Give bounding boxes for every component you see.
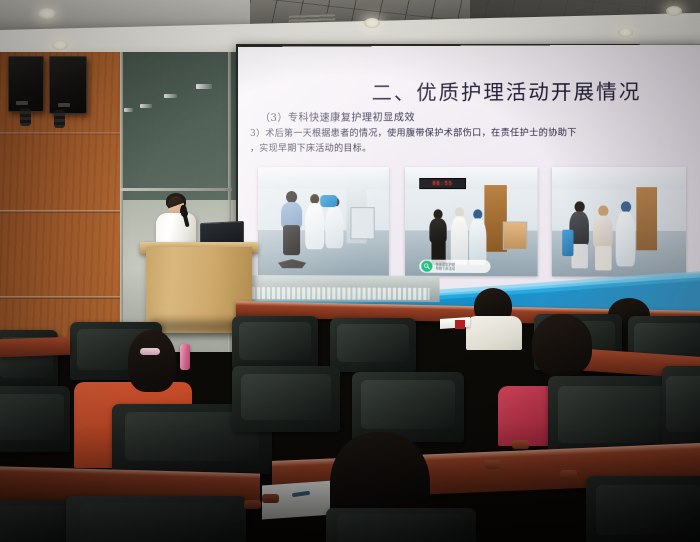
chair-m4-pad bbox=[361, 380, 455, 429]
chair-m5-pad bbox=[558, 386, 667, 443]
attendee-bob-hair-head bbox=[532, 314, 592, 376]
photo2-led-clock-text: 08:55 bbox=[432, 181, 452, 187]
slide-footer-hospital-photo bbox=[238, 275, 440, 302]
chair-f3 bbox=[326, 508, 476, 542]
photo3-patient-legs bbox=[595, 246, 611, 270]
projection-screen: 二、优质护理活动开展情况 （3）专科快速康复护理初显成效 3）术后第一天根据患者… bbox=[238, 44, 700, 311]
photo1-ceiling bbox=[258, 167, 389, 189]
chair-m3 bbox=[232, 366, 340, 432]
downlight-icon-2 bbox=[52, 40, 68, 50]
glass-reflection-4 bbox=[124, 108, 133, 112]
photo3-door bbox=[636, 187, 657, 250]
slide-photo-1 bbox=[258, 167, 389, 276]
photo1-blue-bag bbox=[320, 195, 337, 207]
chair-m3-pad bbox=[241, 374, 332, 420]
chair-b1-pad bbox=[239, 322, 311, 360]
chair-f-arm-4 bbox=[560, 470, 577, 479]
chair-f4-pad bbox=[596, 485, 700, 535]
attendee-orange-top-head bbox=[128, 330, 176, 392]
photo2-led-clock: 08:55 bbox=[419, 178, 466, 189]
attendee-orange-top-hair-tie bbox=[140, 348, 160, 355]
downlight-icon-6 bbox=[618, 28, 633, 37]
slide-photo-2: 08:55 快速康复护理 早期下床活动 bbox=[405, 167, 538, 276]
slide-subtitle: （3）专科快速康复护理初显成效 bbox=[260, 108, 688, 124]
chair-m6 bbox=[662, 366, 700, 446]
slide-body-line-2: ，实现早期下床活动的目标。 bbox=[250, 141, 699, 157]
glass-reflection-2 bbox=[164, 94, 177, 98]
photo2-patient-body bbox=[451, 216, 468, 264]
glass-reflection-1 bbox=[196, 84, 212, 89]
chair-m1-pad bbox=[0, 394, 64, 440]
slide-photo-3 bbox=[552, 167, 686, 277]
chair-f-arm-3 bbox=[484, 460, 501, 469]
microphone-head-icon bbox=[181, 210, 188, 217]
glass-reflection-3 bbox=[140, 104, 152, 108]
photo3-blue-bag bbox=[562, 230, 573, 256]
red-folder-back-row bbox=[455, 320, 465, 329]
photo2-supply-cart bbox=[503, 221, 528, 249]
photo2-watermark-line-1: 快速康复护理 bbox=[436, 262, 455, 266]
slide-body: 3）术后第一天根据患者的情况，使用腹带保护术部伤口，在责任护士的协助下 ，实现早… bbox=[250, 126, 699, 157]
glass-mullion-horizontal bbox=[120, 188, 232, 191]
chair-b2-pad bbox=[337, 324, 409, 362]
conference-room-photo: 二、优质护理活动开展情况 （3）专科快速康复护理初显成效 3）术后第一天根据患者… bbox=[0, 0, 700, 542]
slide-title: 二、优质护理活动开展情况 bbox=[328, 75, 686, 106]
photo1-nurse2-body bbox=[325, 206, 343, 248]
photo2-visitor-body bbox=[429, 218, 446, 242]
desk-row-middle-left bbox=[0, 337, 70, 357]
photo1-patient-legs bbox=[283, 225, 300, 255]
photo3-patient-body bbox=[593, 216, 613, 249]
chair-f4 bbox=[586, 476, 700, 542]
pink-thermos bbox=[180, 344, 190, 370]
chair-f-arm-1 bbox=[244, 500, 261, 509]
chair-m6-pad bbox=[666, 376, 700, 432]
chair-m5-arm bbox=[512, 440, 529, 449]
downlight-icon-1 bbox=[38, 8, 56, 19]
photo1-nurse1-body bbox=[305, 203, 324, 249]
downlight-icon-7 bbox=[666, 6, 682, 16]
chair-f2-pad bbox=[80, 503, 231, 542]
downlight-icon-3 bbox=[364, 18, 380, 28]
chair-f3-pad bbox=[338, 514, 464, 542]
photo3-nurse-body bbox=[616, 212, 636, 267]
attendee-dark-hair-center-torso bbox=[466, 316, 522, 350]
chair-b1 bbox=[232, 316, 318, 370]
chair-f-arm-2 bbox=[262, 494, 279, 503]
chair-f2 bbox=[66, 496, 246, 542]
photo3-ceiling bbox=[552, 167, 686, 189]
slide-body-line-1: 3）术后第一天根据患者的情况，使用腹带保护术部伤口，在责任护士的协助下 bbox=[250, 126, 699, 142]
photo2-nurse-body bbox=[469, 218, 486, 265]
photo3-helper1-legs bbox=[571, 244, 587, 268]
chair-b2 bbox=[330, 318, 416, 372]
photo1-equipment-cart bbox=[350, 207, 374, 239]
chair-m1 bbox=[0, 386, 70, 452]
